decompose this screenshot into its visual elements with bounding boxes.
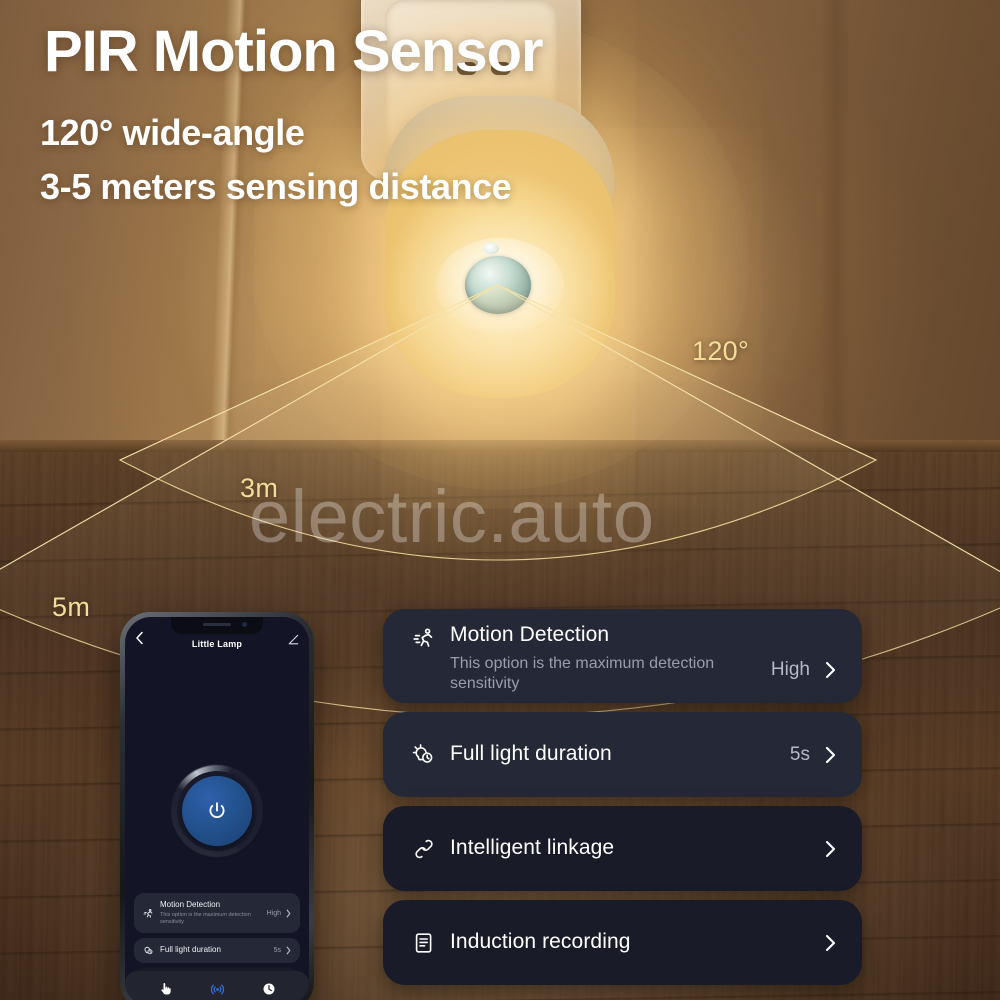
chevron-right-icon[interactable]	[824, 933, 836, 953]
phone-list-item-description: This option is the maximum detection sen…	[160, 912, 262, 926]
document-icon	[411, 930, 437, 956]
phone-list-item-full-light-duration[interactable]: Full light duration 5s	[134, 938, 300, 963]
pir-sensor-lens	[465, 256, 531, 314]
feature-card-text: Motion Detection This option is the maxi…	[450, 621, 761, 694]
phone-nav-bar: Little Lamp	[125, 633, 309, 655]
chevron-right-icon[interactable]	[824, 660, 836, 680]
wall-seam-right	[820, 0, 850, 452]
feature-card-intelligent-linkage[interactable]: Intelligent linkage	[383, 806, 862, 891]
feature-card-induction-recording[interactable]: Induction recording	[383, 900, 862, 985]
phone-tab-bar	[125, 971, 309, 1000]
subtitle-line-1: 120° wide-angle	[40, 106, 511, 160]
phone-list-item-text: Full light duration	[160, 945, 269, 955]
product-infographic: electric.auto PIR Motion Sensor 120° wid…	[0, 0, 1000, 1000]
feature-card-motion-detection[interactable]: Motion Detection This option is the maxi…	[383, 609, 862, 703]
angle-label: 120°	[692, 336, 749, 367]
feature-card-text: Full light duration	[450, 740, 780, 768]
phone-mockup: Little Lamp	[120, 612, 314, 1000]
phone-list-item-title: Motion Detection	[160, 900, 262, 910]
phone-screen-title: Little Lamp	[192, 639, 242, 649]
power-icon	[206, 800, 228, 822]
feature-card-text: Induction recording	[450, 928, 800, 956]
chevron-right-icon[interactable]	[286, 946, 291, 955]
feature-card-title: Motion Detection	[450, 623, 609, 646]
feature-card-title: Induction recording	[450, 930, 631, 953]
running-person-icon	[143, 908, 154, 919]
phone-list-item-title: Full light duration	[160, 945, 269, 955]
feature-card-text: Intelligent linkage	[450, 834, 800, 862]
subtitle-line-2: 3-5 meters sensing distance	[40, 160, 511, 214]
tab-clock-icon[interactable]	[260, 980, 278, 998]
back-chevron-left-icon[interactable]	[135, 631, 144, 650]
chevron-right-icon[interactable]	[824, 745, 836, 765]
chevron-right-icon[interactable]	[286, 909, 291, 918]
pencil-icon[interactable]	[288, 632, 299, 650]
chevron-right-icon[interactable]	[824, 839, 836, 859]
phone-list-item-text: Motion Detection This option is the maxi…	[160, 900, 262, 926]
feature-card-title: Intelligent linkage	[450, 836, 614, 859]
tab-hand-tap-icon[interactable]	[156, 980, 174, 998]
phone-screen: Little Lamp	[125, 617, 309, 1000]
bulb-clock-icon	[143, 945, 154, 956]
page-title: PIR Motion Sensor	[44, 20, 543, 84]
phone-list-item-value: 5s	[274, 947, 281, 954]
distance-label-far: 5m	[52, 592, 90, 623]
feature-card-list: Motion Detection This option is the maxi…	[383, 609, 862, 994]
feature-card-title: Full light duration	[450, 742, 612, 765]
tab-sensor-signal-icon[interactable]	[208, 980, 226, 998]
running-person-icon	[411, 625, 437, 651]
power-dial[interactable]	[171, 765, 263, 857]
earpiece-speaker	[203, 623, 231, 626]
phone-list-item-motion-detection[interactable]: Motion Detection This option is the maxi…	[134, 893, 300, 933]
front-camera	[242, 622, 247, 627]
feature-card-value: High	[771, 659, 810, 681]
bulb-clock-icon	[411, 742, 437, 768]
page-subtitle: 120° wide-angle 3-5 meters sensing dista…	[40, 106, 511, 214]
phone-notch	[171, 617, 263, 634]
distance-label-near: 3m	[240, 473, 278, 504]
feature-card-full-light-duration[interactable]: Full light duration 5s	[383, 712, 862, 797]
phone-list-item-value: High	[267, 910, 281, 917]
pir-indicator-led	[483, 243, 499, 254]
feature-card-description: This option is the maximum detection sen…	[450, 654, 750, 694]
power-button[interactable]	[182, 776, 252, 846]
feature-card-value: 5s	[790, 744, 810, 766]
link-icon	[411, 836, 437, 862]
